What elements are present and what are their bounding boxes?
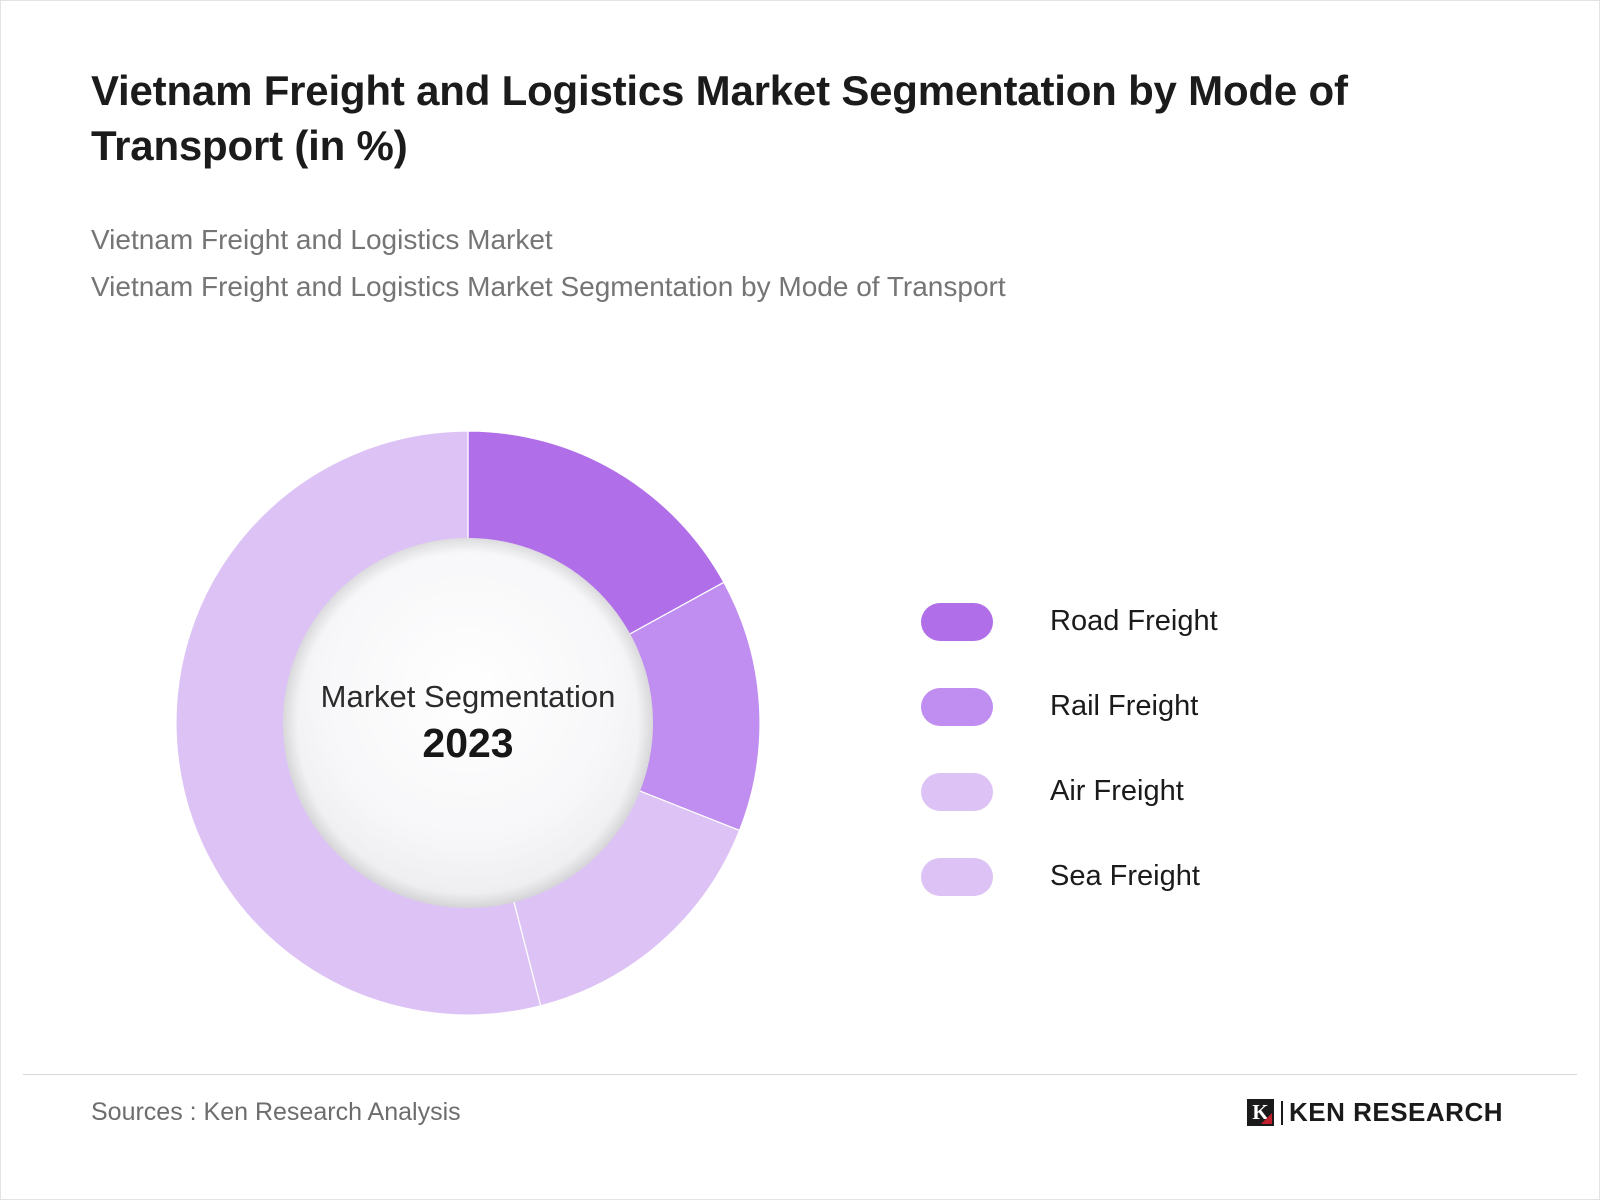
donut-chart: Market Segmentation 2023 bbox=[176, 431, 760, 1015]
legend-item-sea-freight[interactable]: Sea Freight bbox=[921, 834, 1218, 919]
brand-mark-accent bbox=[1261, 1113, 1272, 1124]
header: Vietnam Freight and Logistics Market Seg… bbox=[91, 63, 1451, 310]
subtitle-line-2: Vietnam Freight and Logistics Market Seg… bbox=[91, 263, 1451, 310]
legend-item-air-freight[interactable]: Air Freight bbox=[921, 749, 1218, 834]
footer-divider bbox=[23, 1074, 1577, 1075]
legend-swatch-icon bbox=[921, 603, 993, 641]
legend-swatch-icon bbox=[921, 688, 993, 726]
legend-swatch-icon bbox=[921, 858, 993, 896]
legend-item-rail-freight[interactable]: Rail Freight bbox=[921, 664, 1218, 749]
legend-label: Air Freight bbox=[1050, 775, 1184, 808]
subtitle-block: Vietnam Freight and Logistics Market Vie… bbox=[91, 216, 1451, 310]
subtitle-line-1: Vietnam Freight and Logistics Market bbox=[91, 216, 1451, 263]
brand-divider-icon bbox=[1281, 1101, 1283, 1125]
ken-research-logo: K KEN RESEARCH bbox=[1247, 1097, 1503, 1128]
legend-label: Rail Freight bbox=[1050, 690, 1198, 723]
donut-svg bbox=[176, 431, 760, 1015]
slide-canvas: Vietnam Freight and Logistics Market Seg… bbox=[0, 0, 1600, 1200]
donut-hole-shadow bbox=[283, 538, 653, 908]
page-title: Vietnam Freight and Logistics Market Seg… bbox=[91, 63, 1451, 174]
legend-label: Sea Freight bbox=[1050, 860, 1200, 893]
footer-sources: Sources : Ken Research Analysis bbox=[91, 1098, 461, 1127]
ken-research-monogram-icon: K bbox=[1247, 1099, 1274, 1126]
chart-area: Market Segmentation 2023 Road FreightRai… bbox=[1, 401, 1600, 1051]
brand-name: KEN RESEARCH bbox=[1289, 1097, 1503, 1128]
chart-legend: Road FreightRail FreightAir FreightSea F… bbox=[921, 579, 1218, 919]
legend-swatch-icon bbox=[921, 773, 993, 811]
legend-label: Road Freight bbox=[1050, 605, 1218, 638]
legend-item-road-freight[interactable]: Road Freight bbox=[921, 579, 1218, 664]
